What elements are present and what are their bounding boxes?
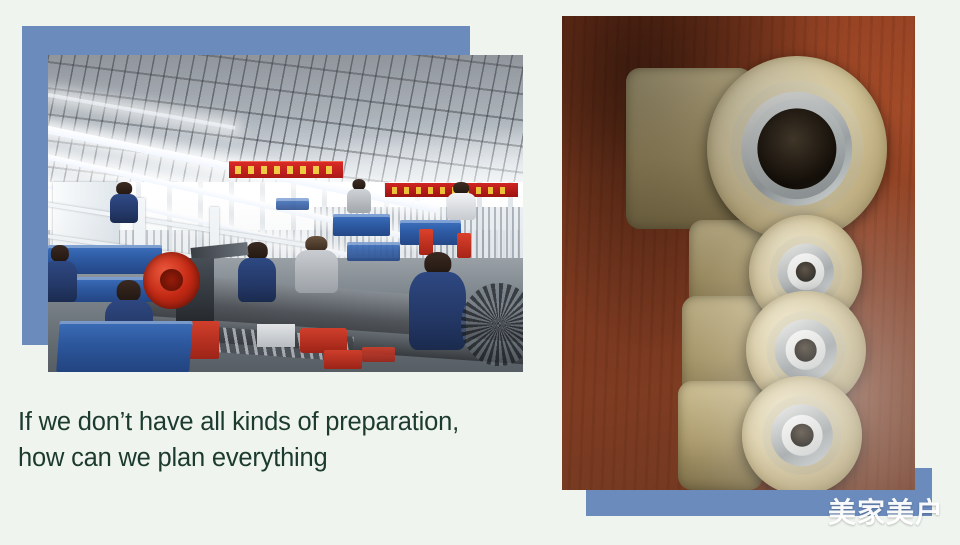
factory-worker (347, 179, 371, 214)
worker-uniform (48, 261, 77, 303)
blue-storage-bin (276, 198, 309, 211)
bearing-bore (791, 424, 814, 447)
red-parts-tray (324, 350, 362, 369)
worker-uniform (447, 193, 476, 220)
factory-worker (48, 245, 77, 302)
worker-head (116, 280, 141, 302)
slide-canvas: If we don’t have all kinds of preparatio… (0, 0, 960, 545)
rollers-on-wood-photo (562, 16, 915, 490)
factory-assembly-line-photo (48, 55, 523, 372)
bearing-bore (757, 108, 836, 189)
watermark-text: 美家美户 (828, 498, 944, 528)
worker-uniform (347, 189, 371, 214)
worker-head (116, 182, 132, 195)
white-parts-tray (257, 324, 295, 346)
worker-head (51, 245, 69, 262)
factory-worker (409, 252, 466, 350)
red-parts-tray (362, 347, 395, 363)
red-banner (229, 161, 343, 177)
worker-uniform (295, 250, 338, 293)
worker-uniform (110, 194, 139, 223)
blue-storage-bin (347, 242, 399, 261)
factory-worker (447, 182, 476, 220)
slide-caption: If we don’t have all kinds of preparatio… (18, 404, 558, 476)
factory-worker (110, 182, 139, 223)
factory-worker (295, 236, 338, 293)
blue-storage-bin (333, 214, 390, 236)
roller-bearing (707, 56, 887, 241)
bearing-bore (794, 339, 817, 362)
blue-storage-bin (56, 321, 193, 372)
roller-bearing (742, 376, 862, 490)
worker-uniform (238, 258, 276, 302)
worker-uniform (409, 272, 466, 350)
